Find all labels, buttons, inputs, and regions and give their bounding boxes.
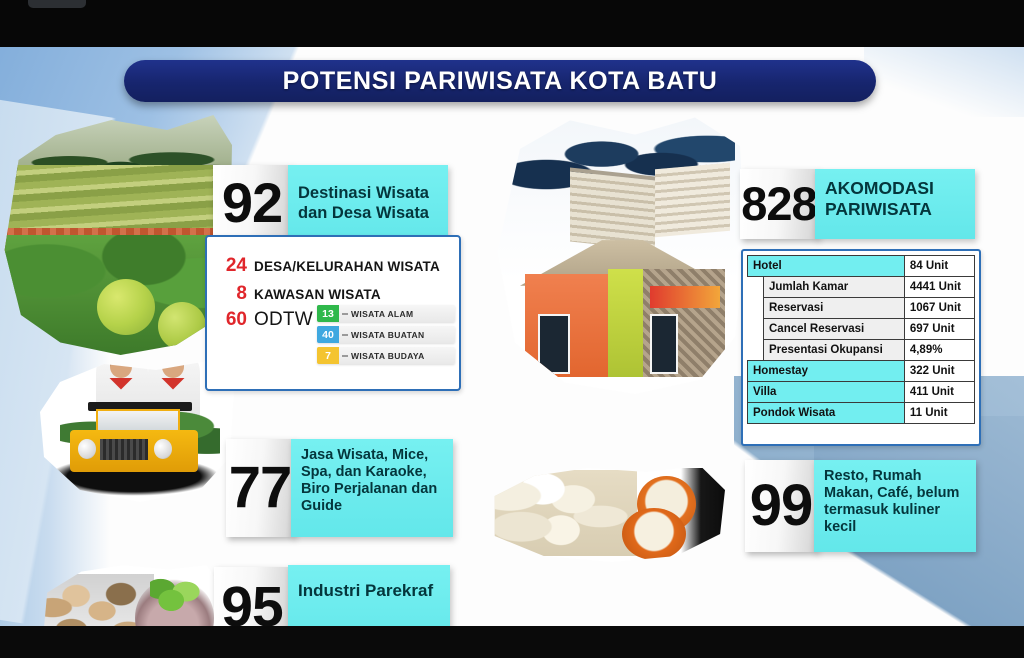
resto-label: Resto, Rumah Makan, Café, belum termasuk… — [814, 460, 976, 536]
industri-number: 95 — [221, 582, 282, 626]
detail-value: 24 — [213, 255, 247, 277]
table-cell-indent — [748, 340, 764, 361]
jasa-number-chip: 77 — [226, 439, 294, 537]
detail-row: 8 KAWASAN WISATA — [207, 283, 459, 305]
table-row: Pondok Wisata 11 Unit — [748, 403, 975, 424]
table-row: Hotel 84 Unit — [748, 256, 975, 277]
table-cell-key: Homestay — [748, 361, 905, 382]
destinasi-number-chip: 92 — [213, 165, 291, 242]
table-row: Jumlah Kamar 4441 Unit — [748, 277, 975, 298]
akomodasi-label: AKOMODASI PARIWISATA — [815, 169, 975, 219]
presentation-slide: POTENSI PARIWISATA KOTA BATU 92 Destinas… — [0, 47, 1024, 626]
jasa-label-panel: Jasa Wisata, Mice, Spa, dan Karaoke, Bir… — [291, 439, 453, 537]
slide-title-banner: POTENSI PARIWISATA KOTA BATU — [124, 60, 876, 102]
odtw-label: WISATA BUATAN — [351, 330, 424, 340]
table-cell-value: 1067 Unit — [904, 298, 974, 319]
table-cell-key: Jumlah Kamar — [764, 277, 905, 298]
industri-number-chip: 95 — [214, 567, 290, 626]
odtw-count-badge: 13 — [317, 305, 339, 322]
odtw-item: 40 WISATA BUATAN — [317, 326, 455, 343]
table-cell-value: 411 Unit — [904, 382, 974, 403]
photo-akomodasi-hotel — [495, 109, 745, 394]
detail-label: DESA/KELURAHAN WISATA — [254, 259, 440, 274]
table-cell-key: Pondok Wisata — [748, 403, 905, 424]
akomodasi-table: Hotel 84 Unit Jumlah Kamar 4441 Unit Res… — [747, 255, 975, 424]
resto-label-panel: Resto, Rumah Makan, Café, belum termasuk… — [814, 460, 976, 552]
odtw-item: 13 WISATA ALAM — [317, 305, 455, 322]
odtw-label: WISATA BUDAYA — [351, 351, 425, 361]
letterbox-top-bar — [0, 0, 1024, 47]
industri-label-panel: Industri Parekraf — [288, 565, 450, 626]
detail-value: 8 — [213, 283, 247, 305]
table-cell-indent — [748, 319, 764, 340]
odtw-connector-line — [342, 313, 348, 315]
resto-number: 99 — [750, 480, 813, 532]
table-cell-key: Hotel — [748, 256, 905, 277]
table-cell-value: 84 Unit — [904, 256, 974, 277]
odtw-connector-line — [342, 334, 348, 336]
background-shape-right-top — [864, 47, 1024, 117]
table-cell-indent — [748, 298, 764, 319]
industri-label: Industri Parekraf — [288, 565, 439, 601]
resto-number-chip: 99 — [745, 460, 817, 552]
destinasi-label-panel: Destinasi Wisata dan Desa Wisata — [288, 165, 448, 242]
slide-stage: POTENSI PARIWISATA KOTA BATU 92 Destinas… — [0, 0, 1024, 658]
akomodasi-label-panel: AKOMODASI PARIWISATA — [815, 169, 975, 239]
odtw-breakdown-list: 13 WISATA ALAM 40 WISATA BUATAN 7 WISATA… — [317, 305, 455, 368]
table-cell-value: 4,89% — [904, 340, 974, 361]
table-cell-key: Presentasi Okupansi — [764, 340, 905, 361]
odtw-count-badge: 7 — [317, 347, 339, 364]
detail-value: 60 — [213, 309, 247, 331]
letterbox-bottom-bar — [0, 626, 1024, 658]
table-row: Cancel Reservasi 697 Unit — [748, 319, 975, 340]
odtw-label: WISATA ALAM — [351, 309, 413, 319]
odtw-connector-line — [342, 355, 348, 357]
odtw-count-badge: 40 — [317, 326, 339, 343]
akomodasi-table-panel: Hotel 84 Unit Jumlah Kamar 4441 Unit Res… — [741, 249, 981, 446]
table-row: Villa 411 Unit — [748, 382, 975, 403]
detail-label: ODTW — [254, 309, 313, 331]
table-cell-key: Villa — [748, 382, 905, 403]
table-cell-key: Reservasi — [764, 298, 905, 319]
akomodasi-number-chip: 828 — [740, 169, 818, 239]
destinasi-number: 92 — [222, 178, 282, 228]
table-row: Homestay 322 Unit — [748, 361, 975, 382]
odtw-item: 7 WISATA BUDAYA — [317, 347, 455, 364]
detail-row: 24 DESA/KELURAHAN WISATA — [207, 255, 459, 277]
table-cell-value: 4441 Unit — [904, 277, 974, 298]
akomodasi-number: 828 — [741, 183, 816, 225]
table-cell-value: 11 Unit — [904, 403, 974, 424]
table-row: Presentasi Okupansi 4,89% — [748, 340, 975, 361]
table-cell-value: 697 Unit — [904, 319, 974, 340]
table-cell-key: Cancel Reservasi — [764, 319, 905, 340]
photo-kuliner-makanan — [480, 462, 725, 562]
page-title: POTENSI PARIWISATA KOTA BATU — [283, 67, 718, 96]
destinasi-label: Destinasi Wisata dan Desa Wisata — [288, 184, 448, 223]
window-chrome-chip — [28, 0, 86, 8]
table-row: Reservasi 1067 Unit — [748, 298, 975, 319]
jasa-number: 77 — [229, 462, 292, 514]
jasa-label: Jasa Wisata, Mice, Spa, dan Karaoke, Bir… — [291, 439, 453, 515]
destinasi-detail-panel: 24 DESA/KELURAHAN WISATA 8 KAWASAN WISAT… — [205, 235, 461, 391]
table-cell-value: 322 Unit — [904, 361, 974, 382]
detail-label: KAWASAN WISATA — [254, 287, 381, 302]
table-cell-indent — [748, 277, 764, 298]
